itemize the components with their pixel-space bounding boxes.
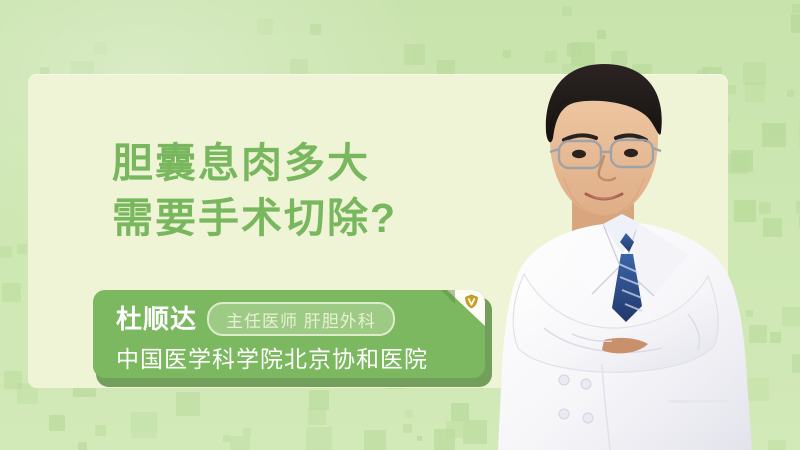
doctor-name: 杜顺达	[116, 306, 197, 332]
hospital-name: 中国医学科学院北京协和医院	[116, 340, 428, 374]
banner-body: 杜顺达 主任医师 肝胆外科 中国医学科学院北京协和医院	[93, 290, 485, 378]
doctor-photo	[452, 28, 800, 450]
promo-banner-canvas: 胆囊息肉多大 需要手术切除? 杜顺达 主任医师 肝胆外科 中国医学科学院北京协和…	[0, 0, 800, 450]
doctor-banner[interactable]: 杜顺达 主任医师 肝胆外科 中国医学科学院北京协和医院	[93, 290, 492, 387]
headline-line-1: 胆囊息肉多大	[112, 140, 370, 186]
status-badge: 主任医师 肝胆外科	[207, 302, 395, 336]
banner-primary-row: 杜顺达 主任医师 肝胆外科	[116, 302, 395, 336]
